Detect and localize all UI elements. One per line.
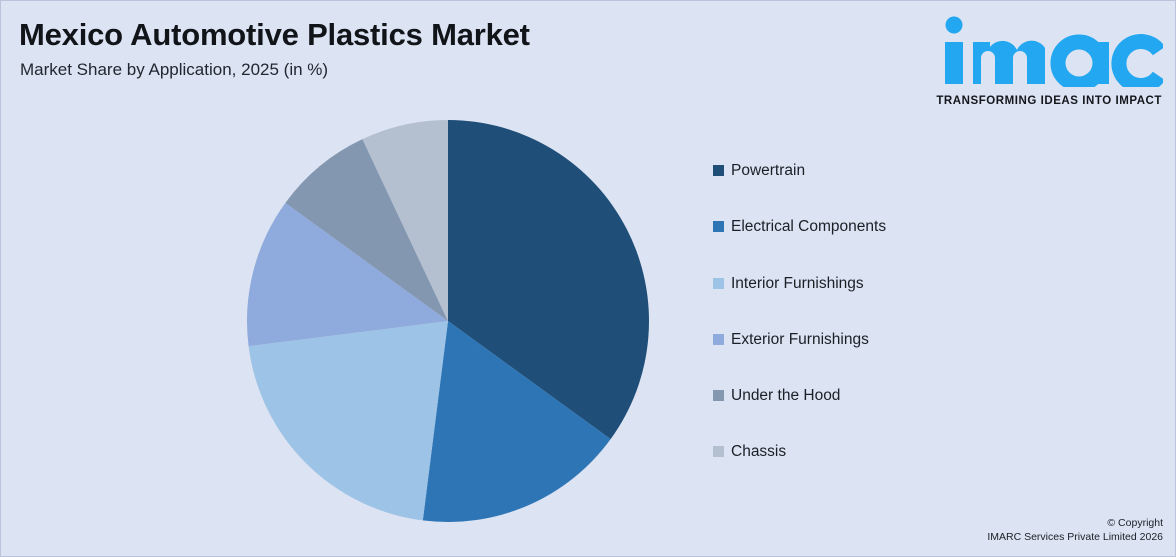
legend-item[interactable]: Chassis	[713, 442, 1013, 498]
legend-label: Chassis	[731, 442, 786, 461]
page-subtitle: Market Share by Application, 2025 (in %)	[20, 60, 328, 80]
chart-page: Mexico Automotive Plastics Market Market…	[0, 0, 1176, 557]
legend-item[interactable]: Electrical Components	[713, 217, 1013, 273]
legend-item[interactable]: Exterior Furnishings	[713, 330, 1013, 386]
legend-swatch-icon	[713, 278, 724, 289]
copyright-line-2: IMARC Services Private Limited 2026	[987, 530, 1163, 544]
copyright-block: © Copyright IMARC Services Private Limit…	[987, 516, 1163, 544]
legend-item[interactable]: Interior Furnishings	[713, 274, 1013, 330]
pie-slice	[249, 321, 448, 520]
legend-label: Exterior Furnishings	[731, 330, 869, 349]
pie-slice-group	[247, 120, 649, 522]
chart-legend: PowertrainElectrical ComponentsInterior …	[713, 161, 1013, 499]
imarc-logo: TRANSFORMING IDEAS INTO IMPACT	[917, 9, 1167, 109]
pie-chart-svg	[246, 119, 650, 523]
legend-swatch-icon	[713, 221, 724, 232]
legend-label: Under the Hood	[731, 386, 840, 405]
legend-item[interactable]: Powertrain	[713, 161, 1013, 217]
legend-swatch-icon	[713, 446, 724, 457]
legend-label: Powertrain	[731, 161, 805, 180]
page-title: Mexico Automotive Plastics Market	[19, 17, 530, 53]
legend-swatch-icon	[713, 390, 724, 401]
copyright-line-1: © Copyright	[987, 516, 1163, 530]
legend-label: Interior Furnishings	[731, 274, 864, 293]
logo-tagline: TRANSFORMING IDEAS INTO IMPACT	[936, 95, 1162, 107]
imarc-wordmark-icon	[923, 11, 1163, 87]
legend-label: Electrical Components	[731, 217, 886, 236]
page-header: Mexico Automotive Plastics Market Market…	[1, 1, 1176, 111]
legend-swatch-icon	[713, 165, 724, 176]
chart-area	[1, 111, 701, 557]
pie-chart	[246, 119, 650, 523]
legend-swatch-icon	[713, 334, 724, 345]
legend-item[interactable]: Under the Hood	[713, 386, 1013, 442]
